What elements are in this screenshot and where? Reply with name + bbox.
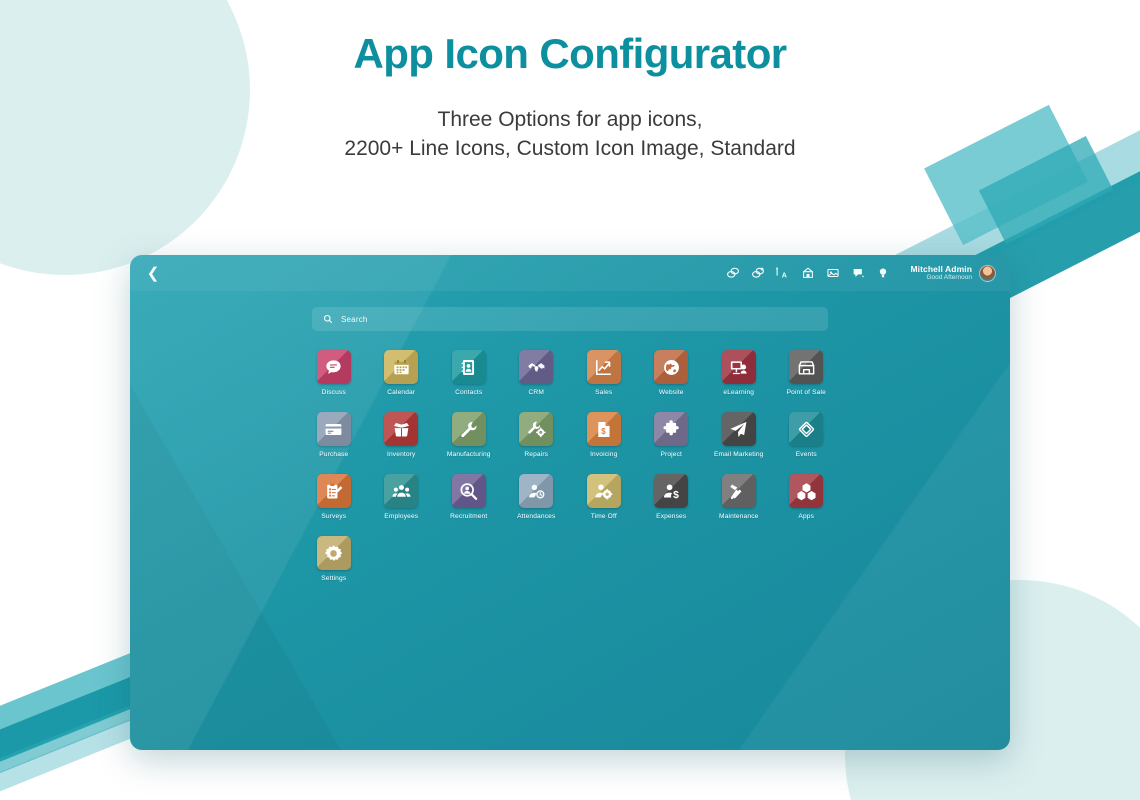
app-item-surveys[interactable]: Surveys bbox=[300, 474, 368, 520]
app-label: Inventory bbox=[387, 451, 415, 458]
app-item-employees[interactable]: Employees bbox=[368, 474, 436, 520]
cubes-icon[interactable] bbox=[789, 474, 823, 508]
invoice-dollar-icon[interactable]: $ bbox=[587, 412, 621, 446]
app-item-crm[interactable]: CRM bbox=[503, 350, 571, 396]
person-dollar-icon[interactable]: $ bbox=[654, 474, 688, 508]
page-title: App Icon Configurator bbox=[0, 30, 1140, 78]
app-item-time-off[interactable]: Time Off bbox=[570, 474, 638, 520]
app-label: Attendances bbox=[517, 513, 555, 520]
app-item-settings[interactable]: Settings bbox=[300, 536, 368, 582]
app-item-inventory[interactable]: Inventory bbox=[368, 412, 436, 458]
chat-bubble-icon[interactable] bbox=[317, 350, 351, 384]
person-gear-icon[interactable] bbox=[587, 474, 621, 508]
user-greeting: Good Afternoon bbox=[910, 274, 972, 281]
contact-card-icon[interactable] bbox=[452, 350, 486, 384]
ticket-icon[interactable] bbox=[789, 412, 823, 446]
app-item-calendar[interactable]: Calendar bbox=[368, 350, 436, 396]
app-label: Apps bbox=[798, 513, 814, 520]
search-placeholder-text: Search bbox=[341, 315, 368, 324]
app-label: Point of Sale bbox=[787, 389, 826, 396]
app-item-website[interactable]: Website bbox=[638, 350, 706, 396]
app-label: Purchase bbox=[319, 451, 348, 458]
gear-icon[interactable] bbox=[317, 536, 351, 570]
page-subtitle: Three Options for app icons, 2200+ Line … bbox=[0, 105, 1140, 163]
presentation-icon[interactable] bbox=[722, 350, 756, 384]
app-label: Events bbox=[796, 451, 817, 458]
storefront-icon[interactable] bbox=[789, 350, 823, 384]
user-text: Mitchell Admin Good Afternoon bbox=[910, 265, 972, 281]
lightbulb-icon[interactable] bbox=[876, 266, 890, 280]
window-topbar: ❮ أ bbox=[130, 255, 1010, 291]
app-item-recruitment[interactable]: Recruitment bbox=[435, 474, 503, 520]
app-item-purchase[interactable]: Purchase bbox=[300, 412, 368, 458]
activities-icon[interactable] bbox=[751, 266, 765, 280]
app-item-events[interactable]: Events bbox=[773, 412, 841, 458]
gallery-icon[interactable] bbox=[826, 266, 840, 280]
app-label: Repairs bbox=[524, 451, 548, 458]
app-label: Calendar bbox=[387, 389, 415, 396]
app-label: Invoicing bbox=[590, 451, 617, 458]
app-item-attendances[interactable]: Attendances bbox=[503, 474, 571, 520]
wrench-gear-icon[interactable] bbox=[519, 412, 553, 446]
system-tray: أ A bbox=[726, 265, 996, 282]
app-label: Project bbox=[660, 451, 682, 458]
wrench-icon[interactable] bbox=[452, 412, 486, 446]
app-grid: DiscussCalendarContactsCRMSalesWebsiteeL… bbox=[300, 350, 840, 582]
app-label: eLearning bbox=[723, 389, 754, 396]
app-item-manufacturing[interactable]: Manufacturing bbox=[435, 412, 503, 458]
app-item-repairs[interactable]: Repairs bbox=[503, 412, 571, 458]
app-item-maintenance[interactable]: Maintenance bbox=[705, 474, 773, 520]
app-item-discuss[interactable]: Discuss bbox=[300, 350, 368, 396]
page-subtitle-line-2: 2200+ Line Icons, Custom Icon Image, Sta… bbox=[0, 134, 1140, 163]
shop-icon[interactable] bbox=[801, 266, 815, 280]
paper-plane-icon[interactable] bbox=[722, 412, 756, 446]
app-window: ❮ أ bbox=[130, 255, 1010, 750]
credit-card-icon[interactable] bbox=[317, 412, 351, 446]
svg-text:A: A bbox=[782, 272, 787, 279]
app-label: Employees bbox=[384, 513, 418, 520]
app-item-elearning[interactable]: eLearning bbox=[705, 350, 773, 396]
app-label: Email Marketing bbox=[714, 451, 764, 458]
page-subtitle-line-1: Three Options for app icons, bbox=[0, 105, 1140, 134]
handshake-icon[interactable] bbox=[519, 350, 553, 384]
app-item-expenses[interactable]: $Expenses bbox=[638, 474, 706, 520]
search-icon bbox=[323, 314, 333, 324]
svg-text:$: $ bbox=[602, 426, 607, 435]
chart-arrow-icon[interactable] bbox=[587, 350, 621, 384]
app-label: Manufacturing bbox=[447, 451, 491, 458]
hammer-icon[interactable] bbox=[722, 474, 756, 508]
chevron-left-icon[interactable]: ❮ bbox=[144, 266, 162, 281]
app-item-point-of-sale[interactable]: Point of Sale bbox=[773, 350, 841, 396]
clipboard-pen-icon[interactable] bbox=[317, 474, 351, 508]
magnifier-person-icon[interactable] bbox=[452, 474, 486, 508]
messages-icon[interactable] bbox=[726, 266, 740, 280]
app-item-project[interactable]: Project bbox=[638, 412, 706, 458]
search-input[interactable]: Search bbox=[312, 307, 828, 331]
puzzle-icon[interactable] bbox=[654, 412, 688, 446]
user-name: Mitchell Admin bbox=[910, 265, 972, 274]
app-item-contacts[interactable]: Contacts bbox=[435, 350, 503, 396]
svg-text:$: $ bbox=[673, 489, 679, 500]
app-label: Settings bbox=[321, 575, 346, 582]
app-label: Surveys bbox=[321, 513, 346, 520]
announcement-icon[interactable] bbox=[851, 266, 865, 280]
translate-icon[interactable]: أ A bbox=[776, 266, 790, 280]
globe-icon[interactable] bbox=[654, 350, 688, 384]
app-label: CRM bbox=[529, 389, 544, 396]
app-item-sales[interactable]: Sales bbox=[570, 350, 638, 396]
app-item-invoicing[interactable]: $Invoicing bbox=[570, 412, 638, 458]
app-label: Maintenance bbox=[719, 513, 758, 520]
calendar-icon[interactable] bbox=[384, 350, 418, 384]
svg-text:أ: أ bbox=[776, 266, 778, 278]
app-label: Recruitment bbox=[450, 513, 487, 520]
people-group-icon[interactable] bbox=[384, 474, 418, 508]
poster-root: App Icon Configurator Three Options for … bbox=[0, 0, 1140, 800]
person-clock-icon[interactable] bbox=[519, 474, 553, 508]
user-menu[interactable]: Mitchell Admin Good Afternoon bbox=[910, 265, 996, 282]
app-item-apps[interactable]: Apps bbox=[773, 474, 841, 520]
open-box-icon[interactable] bbox=[384, 412, 418, 446]
app-label: Expenses bbox=[656, 513, 686, 520]
app-item-email-marketing[interactable]: Email Marketing bbox=[705, 412, 773, 458]
avatar[interactable] bbox=[979, 265, 996, 282]
app-label: Discuss bbox=[322, 389, 346, 396]
app-label: Website bbox=[659, 389, 684, 396]
app-label: Time Off bbox=[591, 513, 617, 520]
search-row: Search bbox=[130, 291, 1010, 331]
app-label: Sales bbox=[595, 389, 612, 396]
app-label: Contacts bbox=[455, 389, 482, 396]
